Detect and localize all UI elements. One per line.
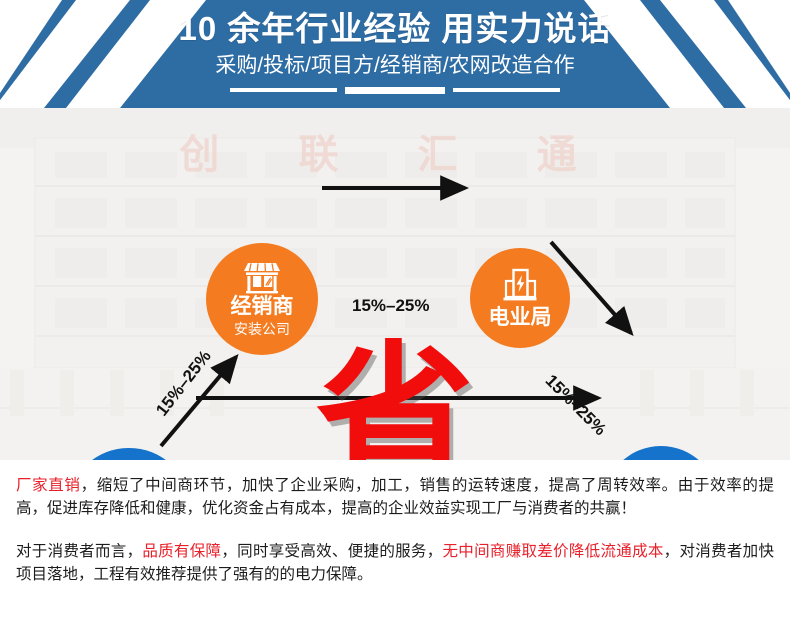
storefront-icon [240, 260, 284, 294]
infographic-page: 10 余年行业经验 用实力说话 采购/投标/项目方/经销商/农网改造合作 [0, 0, 790, 618]
paragraph-two-part1: 对于消费者而言， [16, 543, 142, 560]
rule-segment-right [453, 88, 560, 92]
rule-segment-left [230, 88, 337, 92]
arrow-label-dealer-to-bureau: 15%–25% [352, 296, 430, 316]
power-building-icon [501, 267, 539, 305]
node-dealer-label: 经销商 [231, 295, 294, 319]
header-banner: 10 余年行业经验 用实力说话 采购/投标/项目方/经销商/农网改造合作 [0, 0, 790, 108]
paragraph-one-highlight: 厂家直销 [16, 477, 81, 494]
rule-gap-right [445, 88, 453, 92]
node-dealer-sublabel: 安装公司 [234, 320, 290, 338]
rule-gap-left [337, 88, 345, 92]
paragraph-two-highlight-two: 无中间商赚取差价降低流通成本 [443, 543, 664, 560]
paragraph-two: 对于消费者而言，品质有保障，同时享受高效、便捷的服务，无中间商赚取差价降低流通成… [16, 540, 774, 586]
node-dealer[interactable]: 经销商 安装公司 [206, 243, 318, 355]
banner-title: 10 余年行业经验 用实力说话 [178, 9, 611, 49]
banner-divider-rule [230, 88, 560, 92]
flow-diagram: 创 联 汇 通 省 [0, 108, 790, 460]
paragraph-two-part2: ，同时享受高效、便捷的服务， [221, 543, 442, 560]
paragraph-one: 厂家直销，缩短了中间商环节，加快了企业采购，加工，销售的运转速度，提高了周转效率… [16, 474, 774, 520]
flow-arrows [0, 108, 790, 460]
paragraph-two-highlight-one: 品质有保障 [142, 543, 221, 560]
description-section: 厂家直销，缩短了中间商环节，加快了企业采购，加工，销售的运转速度，提高了周转效率… [0, 460, 790, 618]
node-bureau-label: 电业局 [489, 306, 552, 330]
paragraph-one-rest: ，缩短了中间商环节，加快了企业采购，加工，销售的运转速度，提高了周转效率。由于效… [16, 477, 774, 517]
node-bureau[interactable]: 电业局 [470, 248, 570, 348]
rule-segment-middle [345, 87, 445, 94]
banner-subtitle: 采购/投标/项目方/经销商/农网改造合作 [215, 51, 574, 81]
